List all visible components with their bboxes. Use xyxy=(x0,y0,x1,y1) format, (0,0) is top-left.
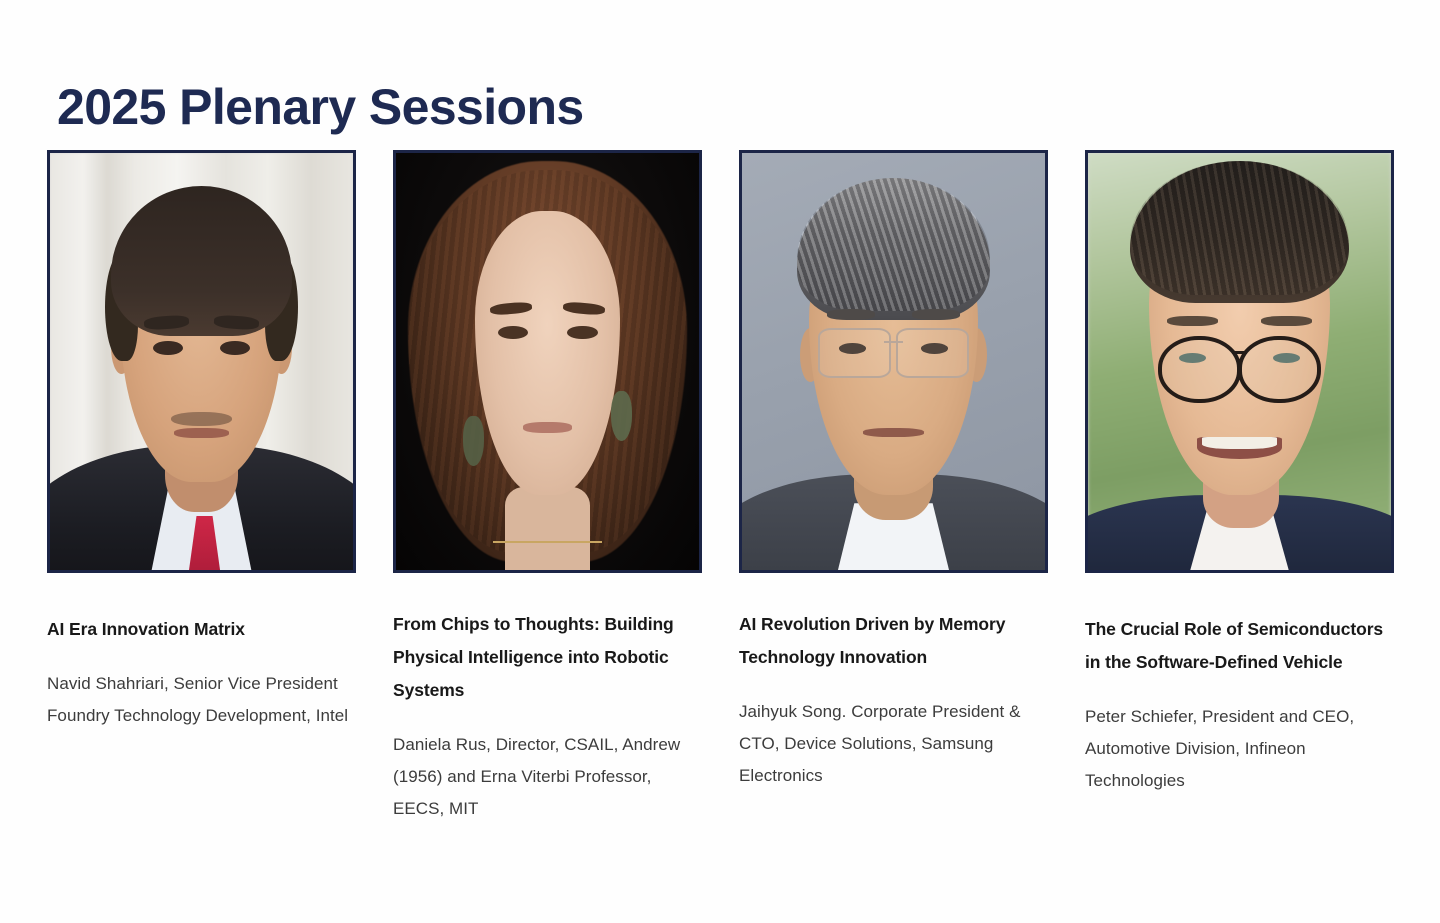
portrait-peter-schiefer xyxy=(1085,150,1394,573)
session-card[interactable]: The Crucial Role of Semiconductors in th… xyxy=(1085,150,1394,825)
portrait-image xyxy=(1088,153,1391,570)
session-speaker: Daniela Rus, Director, CSAIL, Andrew (19… xyxy=(393,729,698,825)
session-speaker: Jaihyuk Song. Corporate President & CTO,… xyxy=(739,696,1044,792)
session-text: AI Revolution Driven by Memory Technolog… xyxy=(739,573,1048,792)
portrait-image xyxy=(396,153,699,570)
session-card[interactable]: From Chips to Thoughts: Building Physica… xyxy=(393,150,702,825)
portrait-image xyxy=(742,153,1045,570)
session-speaker: Peter Schiefer, President and CEO, Autom… xyxy=(1085,701,1390,797)
session-text: From Chips to Thoughts: Building Physica… xyxy=(393,573,702,825)
session-card[interactable]: AI Revolution Driven by Memory Technolog… xyxy=(739,150,1048,825)
session-text: AI Era Innovation Matrix Navid Shahriari… xyxy=(47,573,356,732)
session-title: From Chips to Thoughts: Building Physica… xyxy=(393,608,698,707)
plenary-sessions-page: 2025 Plenary Sessions xyxy=(0,0,1440,923)
portrait-daniela-rus xyxy=(393,150,702,573)
portrait-image xyxy=(50,153,353,570)
session-title: AI Revolution Driven by Memory Technolog… xyxy=(739,608,1044,674)
portrait-navid-shahriari xyxy=(47,150,356,573)
session-card[interactable]: AI Era Innovation Matrix Navid Shahriari… xyxy=(47,150,356,825)
portrait-jaihyuk-song xyxy=(739,150,1048,573)
session-speaker: Navid Shahriari, Senior Vice President F… xyxy=(47,668,352,732)
session-title: The Crucial Role of Semiconductors in th… xyxy=(1085,613,1390,679)
sessions-grid: AI Era Innovation Matrix Navid Shahriari… xyxy=(47,150,1440,825)
session-title: AI Era Innovation Matrix xyxy=(47,613,352,646)
page-title: 2025 Plenary Sessions xyxy=(57,80,584,135)
session-text: The Crucial Role of Semiconductors in th… xyxy=(1085,573,1394,797)
